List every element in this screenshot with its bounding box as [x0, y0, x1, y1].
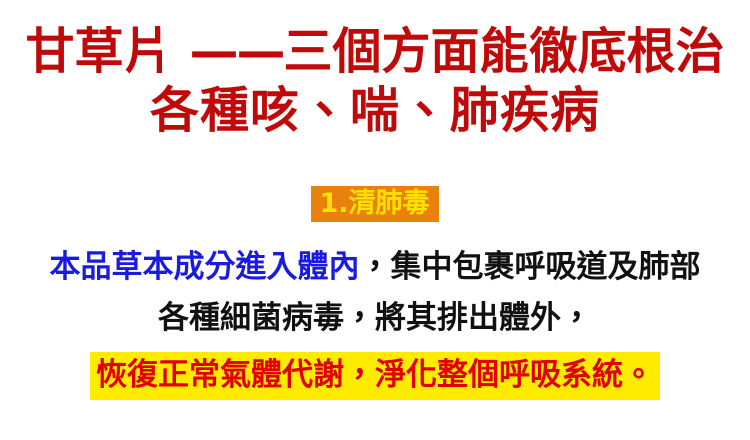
headline-block: 甘草片 ——三個方面能徹底根治 各種咳、喘、肺疾病 [0, 22, 750, 140]
body-line-3: 恢復正常氣體代謝，淨化整個呼吸系統。 [0, 347, 750, 403]
headline-line-1: 甘草片 ——三個方面能徹底根治 [0, 22, 750, 82]
body-line-2: 各種細菌病毒，將其排出體外， [0, 293, 750, 344]
body-line-3-highlight: 恢復正常氣體代謝，淨化整個呼吸系統。 [90, 352, 660, 400]
body-block: 本品草本成分進入體內，集中包裹呼吸道及肺部 各種細菌病毒，將其排出體外， 恢復正… [0, 242, 750, 403]
body-line-1-blue-segment: 本品草本成分進入體內 [50, 249, 360, 285]
body-line-1-black-segment: ，集中包裹呼吸道及肺部 [360, 249, 701, 285]
headline-line-2: 各種咳、喘、肺疾病 [0, 82, 750, 140]
body-line-1: 本品草本成分進入體內，集中包裹呼吸道及肺部 [0, 242, 750, 293]
poster-root: 甘草片 ——三個方面能徹底根治 各種咳、喘、肺疾病 1.清肺毒 本品草本成分進入… [0, 0, 750, 440]
headline-line-1-part-b: 三個方面能徹底根治 [284, 23, 725, 80]
section-badge-row: 1.清肺毒 [0, 186, 750, 222]
headline-em-dash: —— [190, 23, 284, 80]
section-badge-clear-lung-toxin: 1.清肺毒 [311, 186, 438, 222]
headline-line-1-part-a: 甘草片 [25, 23, 189, 80]
